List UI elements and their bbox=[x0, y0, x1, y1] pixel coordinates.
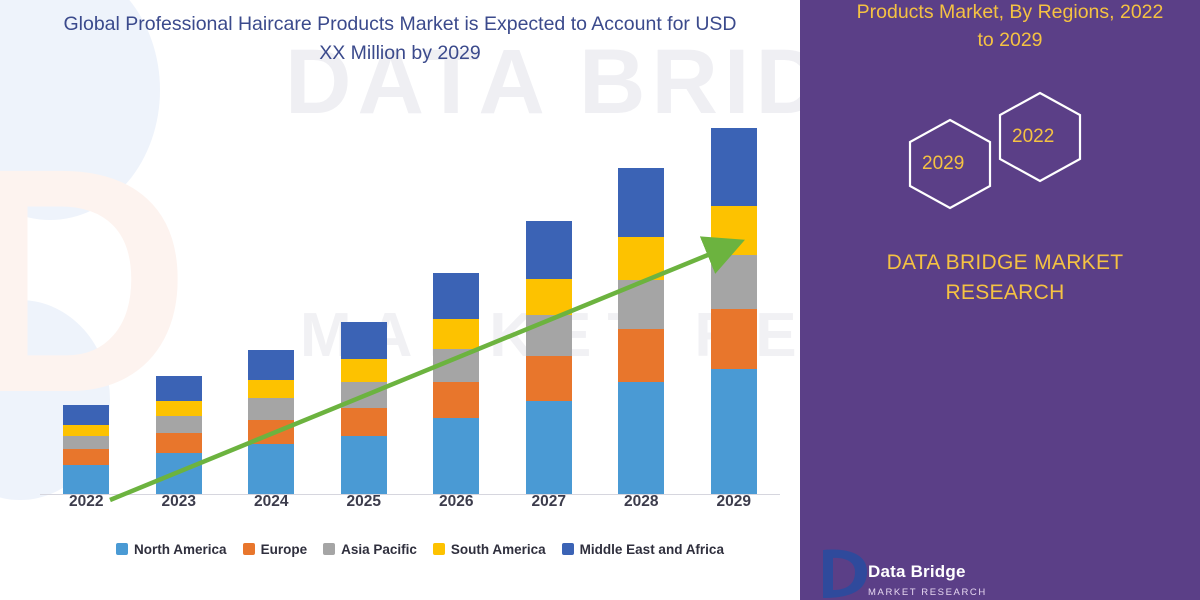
legend-swatch-icon bbox=[116, 543, 128, 555]
x-axis-labels: 20222023202420252026202720282029 bbox=[40, 493, 800, 517]
bar-segment-north-america bbox=[618, 382, 664, 494]
x-label-2022: 2022 bbox=[56, 493, 116, 511]
legend-swatch-icon bbox=[433, 543, 445, 555]
legend-label: North America bbox=[134, 542, 227, 557]
legend-item-middle-east-and-africa[interactable]: Middle East and Africa bbox=[562, 542, 724, 557]
bar-segment-asia-pacific bbox=[711, 255, 757, 309]
bar-segment-north-america bbox=[63, 465, 109, 494]
legend-label: South America bbox=[451, 542, 546, 557]
bar-2028 bbox=[618, 168, 664, 494]
infographic-root: D DATA BRIDGE MARKET RESEARCH Global Pro… bbox=[0, 0, 1200, 600]
bar-segment-middle-east-and-africa bbox=[248, 350, 294, 380]
bar-segment-middle-east-and-africa bbox=[433, 273, 479, 320]
chart-legend: North AmericaEuropeAsia PacificSouth Ame… bbox=[40, 537, 800, 561]
bar-segment-middle-east-and-africa bbox=[156, 376, 202, 401]
bar-segment-middle-east-and-africa bbox=[341, 322, 387, 359]
legend-label: Middle East and Africa bbox=[580, 542, 724, 557]
x-label-2028: 2028 bbox=[611, 493, 671, 511]
bar-segment-middle-east-and-africa bbox=[711, 128, 757, 206]
bar-2026 bbox=[433, 273, 479, 495]
hexagon-right-label: 2022 bbox=[1012, 126, 1054, 148]
bar-segment-south-america bbox=[156, 401, 202, 416]
bar-segment-south-america bbox=[526, 279, 572, 315]
hexagon-left-label: 2029 bbox=[922, 153, 964, 175]
bar-segment-south-america bbox=[618, 237, 664, 280]
bar-segment-europe bbox=[341, 408, 387, 436]
bar-segment-europe bbox=[618, 329, 664, 382]
x-label-2025: 2025 bbox=[334, 493, 394, 511]
x-label-2023: 2023 bbox=[149, 493, 209, 511]
bar-segment-asia-pacific bbox=[526, 315, 572, 356]
legend-swatch-icon bbox=[323, 543, 335, 555]
panel-brand-line1: DATA BRIDGE MARKET bbox=[887, 251, 1124, 274]
bar-segment-asia-pacific bbox=[341, 382, 387, 408]
legend-item-south-america[interactable]: South America bbox=[433, 542, 546, 557]
legend-item-asia-pacific[interactable]: Asia Pacific bbox=[323, 542, 417, 557]
bar-segment-north-america bbox=[526, 401, 572, 494]
logo-subtitle: MARKET RESEARCH bbox=[868, 587, 987, 598]
bar-segment-south-america bbox=[248, 380, 294, 398]
panel-brand-line2: RESEARCH bbox=[945, 281, 1064, 304]
bar-group bbox=[40, 110, 780, 494]
bar-segment-north-america bbox=[248, 444, 294, 494]
x-label-2024: 2024 bbox=[241, 493, 301, 511]
bar-segment-north-america bbox=[433, 418, 479, 494]
chart-plot-area bbox=[40, 110, 800, 495]
bar-2027 bbox=[526, 221, 572, 494]
bar-segment-europe bbox=[433, 382, 479, 418]
bar-segment-europe bbox=[711, 309, 757, 369]
panel-brand: DATA BRIDGE MARKET RESEARCH bbox=[840, 248, 1170, 309]
bar-2029 bbox=[711, 128, 757, 494]
bar-segment-middle-east-and-africa bbox=[63, 405, 109, 425]
bar-2024 bbox=[248, 350, 294, 494]
legend-item-north-america[interactable]: North America bbox=[116, 542, 227, 557]
chart-title: Global Professional Haircare Products Ma… bbox=[60, 10, 740, 69]
bar-2023 bbox=[156, 376, 202, 494]
bar-segment-europe bbox=[248, 420, 294, 444]
hexagon-pair: 2029 2022 bbox=[890, 85, 1130, 220]
x-label-2029: 2029 bbox=[704, 493, 764, 511]
bar-segment-south-america bbox=[63, 425, 109, 437]
bar-segment-south-america bbox=[341, 359, 387, 382]
legend-swatch-icon bbox=[243, 543, 255, 555]
bar-segment-europe bbox=[63, 449, 109, 464]
right-panel: Products Market, By Regions, 2022 to 202… bbox=[800, 0, 1200, 600]
bar-segment-middle-east-and-africa bbox=[526, 221, 572, 279]
bar-segment-middle-east-and-africa bbox=[618, 168, 664, 236]
bar-segment-asia-pacific bbox=[618, 280, 664, 329]
logo-name: Data Bridge bbox=[868, 562, 966, 582]
bar-segment-south-america bbox=[433, 319, 479, 348]
panel-title: Products Market, By Regions, 2022 to 202… bbox=[850, 0, 1170, 55]
bar-2022 bbox=[63, 405, 109, 494]
bar-segment-north-america bbox=[341, 436, 387, 494]
x-label-2027: 2027 bbox=[519, 493, 579, 511]
bar-segment-south-america bbox=[711, 206, 757, 255]
bar-segment-asia-pacific bbox=[433, 349, 479, 383]
bar-segment-north-america bbox=[156, 453, 202, 494]
bar-segment-north-america bbox=[711, 369, 757, 494]
bar-2025 bbox=[341, 322, 387, 494]
x-label-2026: 2026 bbox=[426, 493, 486, 511]
bar-segment-asia-pacific bbox=[248, 398, 294, 420]
bar-segment-asia-pacific bbox=[156, 416, 202, 433]
legend-label: Asia Pacific bbox=[341, 542, 417, 557]
bar-segment-asia-pacific bbox=[63, 436, 109, 449]
bar-segment-europe bbox=[156, 433, 202, 453]
legend-label: Europe bbox=[261, 542, 308, 557]
legend-item-europe[interactable]: Europe bbox=[243, 542, 308, 557]
legend-swatch-icon bbox=[562, 543, 574, 555]
bar-segment-europe bbox=[526, 356, 572, 401]
